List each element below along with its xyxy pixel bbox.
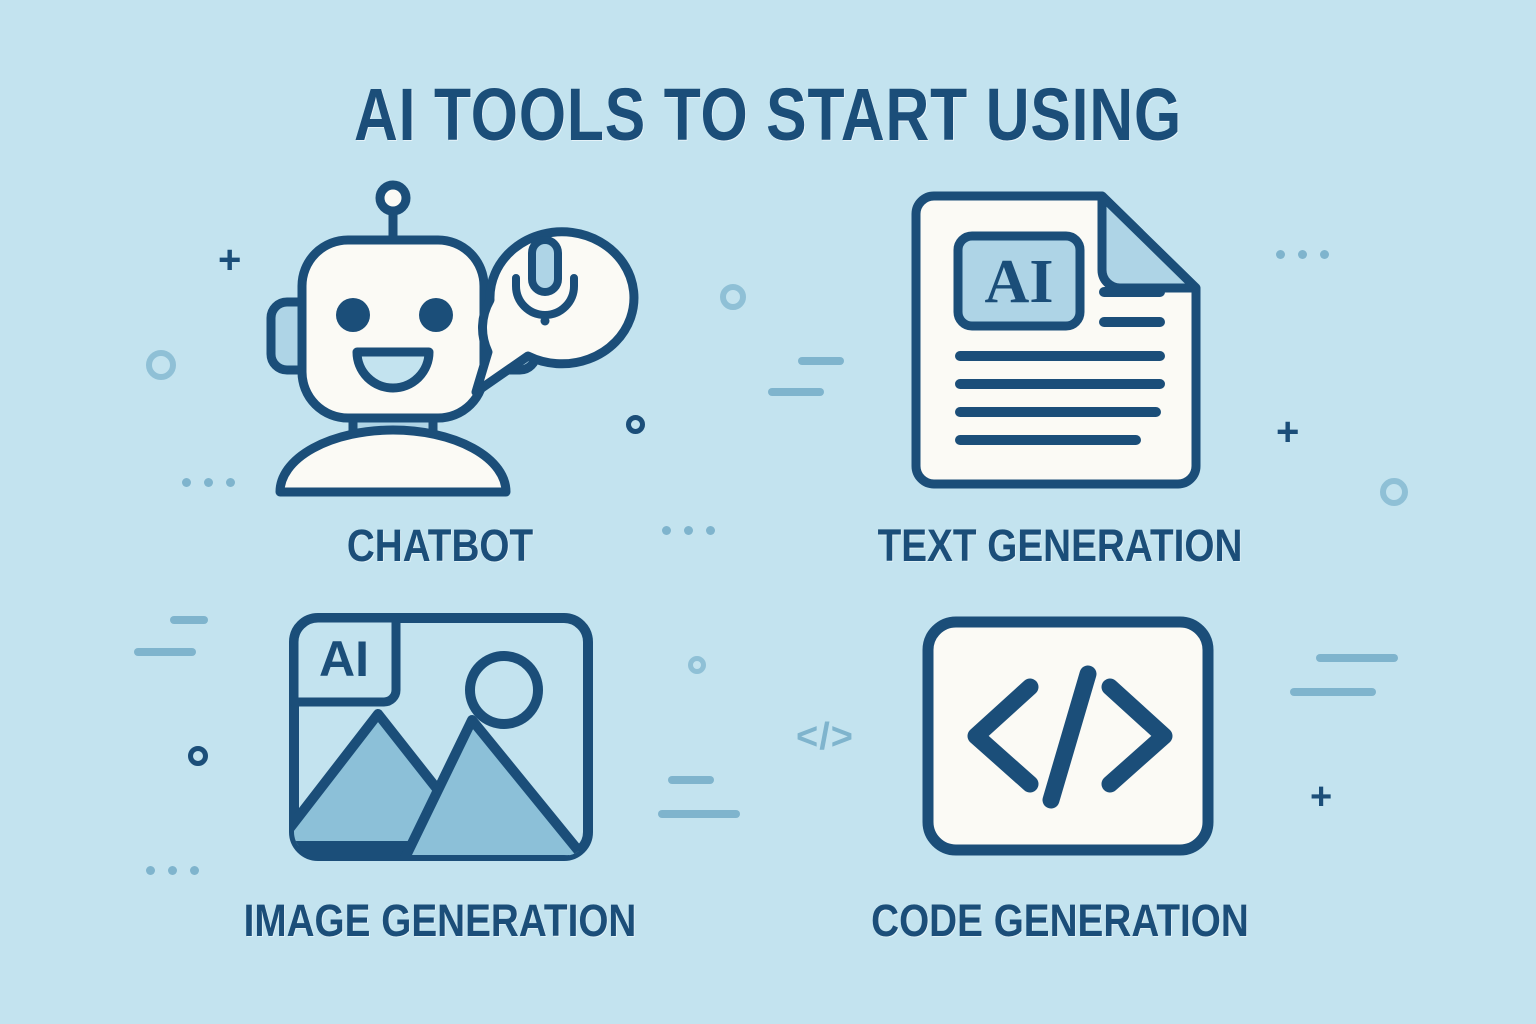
ring-icon-center-upper	[720, 284, 746, 310]
ring-icon-left-upper	[146, 350, 176, 380]
ai-badge-text: AI	[319, 631, 369, 687]
infographic-canvas: AI TOOLS TO START USING + + </> +	[0, 0, 1536, 1024]
ai-badge-text: AI	[985, 248, 1054, 316]
card-label-chatbot: CHATBOT	[216, 520, 663, 572]
folded-corner	[1102, 196, 1196, 288]
card-text-generation[interactable]: AI TEXT GENERATION	[800, 180, 1320, 600]
card-image-generation[interactable]: AI IMAGE GENERATION	[180, 600, 700, 1000]
page-title: AI TOOLS TO START USING	[138, 72, 1398, 157]
image-frame-icon: AI	[286, 610, 596, 875]
card-code-generation[interactable]: CODE GENERATION	[800, 600, 1320, 1000]
code-brackets-icon	[918, 612, 1218, 867]
ring-icon-right-upper	[1380, 478, 1408, 506]
robot-with-speech-bubble-icon	[240, 180, 660, 515]
card-label-image-generation: IMAGE GENERATION	[216, 895, 663, 947]
card-label-code-generation: CODE GENERATION	[836, 895, 1283, 947]
card-chatbot[interactable]: CHATBOT	[180, 180, 700, 600]
document-page-icon: AI	[898, 190, 1218, 515]
card-label-text-generation: TEXT GENERATION	[836, 520, 1283, 572]
dash-icon-right-lower-1	[1316, 654, 1398, 662]
